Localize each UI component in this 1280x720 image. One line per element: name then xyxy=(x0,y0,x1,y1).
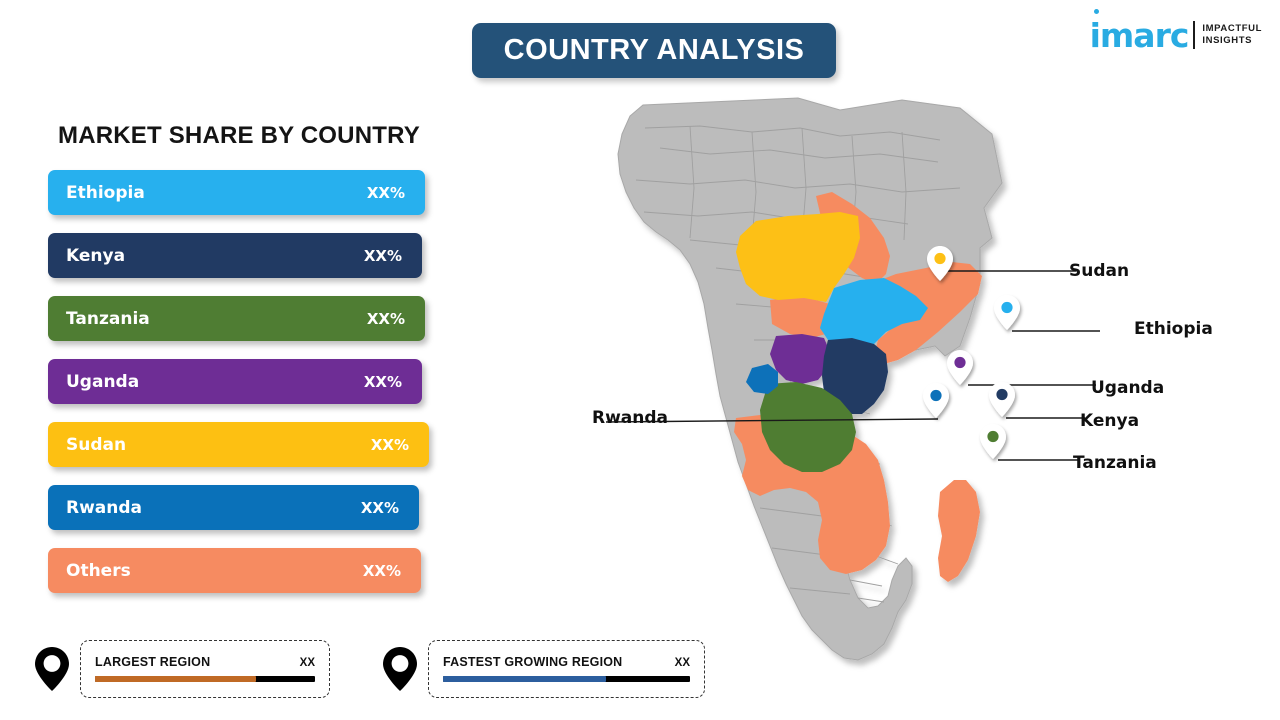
market-share-heading: MARKET SHARE BY COUNTRY xyxy=(58,122,420,150)
page-title-banner: COUNTRY ANALYSIS xyxy=(472,23,836,78)
logo-wordmark: imarc xyxy=(1090,19,1189,52)
share-bar-tanzania[interactable]: TanzaniaXX% xyxy=(48,296,425,341)
legend-largest-track xyxy=(95,676,315,682)
map-pin-kenya[interactable] xyxy=(989,382,1015,417)
map-label-ethiopia: Ethiopia xyxy=(1134,319,1213,339)
share-bar-label: Others xyxy=(66,561,131,581)
logo-divider xyxy=(1193,21,1195,49)
share-bar-others[interactable]: OthersXX% xyxy=(48,548,421,593)
imarc-logo: imarc IMPACTFUL INSIGHTS xyxy=(1090,14,1262,56)
logo-tagline-line1: IMPACTFUL xyxy=(1202,23,1262,35)
share-bar-kenya[interactable]: KenyaXX% xyxy=(48,233,422,278)
slide-canvas: COUNTRY ANALYSIS imarc IMPACTFUL INSIGHT… xyxy=(0,0,1280,720)
map-label-tanzania: Tanzania xyxy=(1073,453,1157,473)
share-bar-label: Uganda xyxy=(66,372,139,392)
map-pin-tanzania[interactable] xyxy=(980,424,1006,459)
logo-tagline-line2: INSIGHTS xyxy=(1202,35,1262,47)
map-pin-icon xyxy=(382,646,418,692)
africa-map xyxy=(540,88,1100,713)
map-label-rwanda: Rwanda xyxy=(592,408,668,428)
share-bar-rwanda[interactable]: RwandaXX% xyxy=(48,485,419,530)
share-bar-uganda[interactable]: UgandaXX% xyxy=(48,359,422,404)
share-bar-value: XX% xyxy=(364,247,402,265)
map-label-kenya: Kenya xyxy=(1080,411,1139,431)
legend-largest-box: LARGEST REGION XX xyxy=(80,640,330,698)
logo-dot-icon xyxy=(1094,9,1099,14)
share-bar-label: Ethiopia xyxy=(66,183,145,203)
map-label-sudan: Sudan xyxy=(1069,261,1129,281)
share-bar-value: XX% xyxy=(367,184,405,202)
legend-largest-value: XX xyxy=(300,657,315,669)
map-pin-rwanda[interactable] xyxy=(923,383,949,418)
map-pin-ethiopia[interactable] xyxy=(994,295,1020,330)
market-share-bar-list: EthiopiaXX%KenyaXX%TanzaniaXX%UgandaXX%S… xyxy=(0,170,450,611)
share-bar-label: Rwanda xyxy=(66,498,142,518)
logo-tagline: IMPACTFUL INSIGHTS xyxy=(1202,23,1262,47)
share-bar-sudan[interactable]: SudanXX% xyxy=(48,422,429,467)
share-bar-value: XX% xyxy=(367,310,405,328)
map-pin-uganda[interactable] xyxy=(947,350,973,385)
legend-largest-region: LARGEST REGION XX xyxy=(34,640,330,698)
legend-largest-top: LARGEST REGION XX xyxy=(95,655,315,669)
share-bar-value: XX% xyxy=(364,373,402,391)
share-bar-label: Kenya xyxy=(66,246,125,266)
legend-largest-title: LARGEST REGION xyxy=(95,655,210,669)
africa-map-svg xyxy=(540,88,1100,713)
page-title: COUNTRY ANALYSIS xyxy=(504,34,805,67)
share-bar-label: Sudan xyxy=(66,435,126,455)
share-bar-ethiopia[interactable]: EthiopiaXX% xyxy=(48,170,425,215)
map-country-madagascar xyxy=(938,480,980,582)
share-bar-value: XX% xyxy=(371,436,409,454)
map-label-uganda: Uganda xyxy=(1091,378,1164,398)
share-bar-value: XX% xyxy=(361,499,399,517)
map-pin-icon xyxy=(34,646,70,692)
share-bar-label: Tanzania xyxy=(66,309,150,329)
legend-largest-fill xyxy=(95,676,256,682)
share-bar-value: XX% xyxy=(363,562,401,580)
